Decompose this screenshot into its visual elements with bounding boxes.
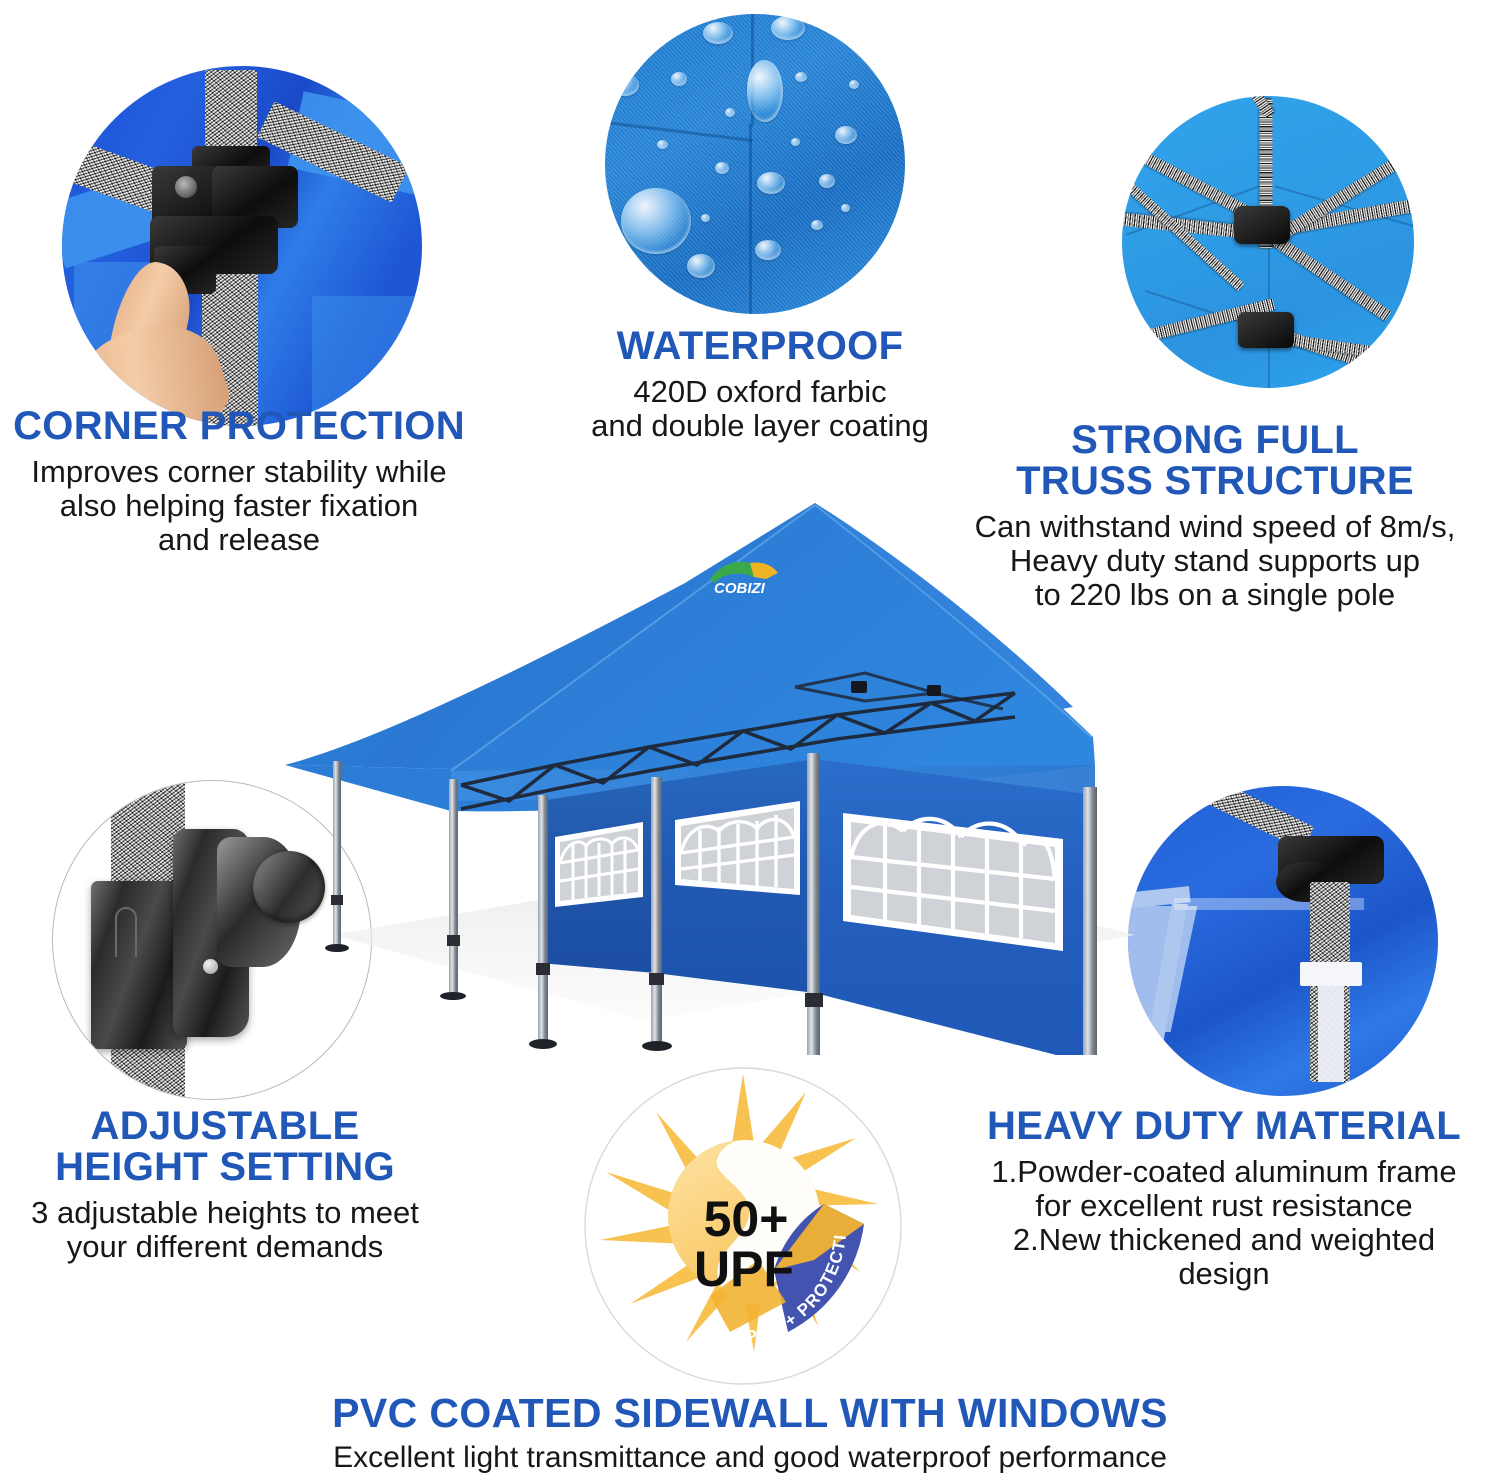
waterproof-fabric-photo [605,14,905,314]
badge-value: 50+ [704,1191,789,1247]
velcro-strap [1300,962,1362,986]
heavy-duty-material-photo [1128,786,1438,1096]
screw-icon [175,176,197,198]
upf-protection-badge: UPF50+ PROTECTION 50+ UPF [578,1064,908,1389]
canopy-tent-illustration: COBIZI [255,465,1135,1055]
feature-title: WATERPROOF [510,326,1010,367]
pin-slot-icon [115,907,137,957]
truss-hub-icon [1234,206,1290,244]
feature-body: 3 adjustable heights to meet your differ… [0,1196,450,1264]
svg-text:COBIZI: COBIZI [714,580,766,597]
feature-heavy-duty-material: HEAVY DUTY MATERIAL 1.Powder-coated alum… [948,1106,1500,1291]
feature-title: ADJUSTABLE HEIGHT SETTING [0,1106,450,1188]
badge-label: UPF [694,1241,794,1297]
rivet-icon [203,959,218,974]
feature-body: 1.Powder-coated aluminum frame for excel… [948,1155,1500,1291]
caption-title: PVC COATED SIDEWALL WITH WINDOWS [0,1392,1500,1435]
feature-title: CORNER PROTECTION [0,406,478,447]
feature-title: HEAVY DUTY MATERIAL [948,1106,1500,1147]
bottom-caption: PVC COATED SIDEWALL WITH WINDOWS Excelle… [0,1392,1500,1475]
corner-protection-photo [62,66,422,426]
sidewall-window [555,822,643,907]
truss-hub-lower-icon [1238,312,1294,348]
caption-subtitle: Excellent light transmittance and good w… [0,1441,1500,1475]
infographic-page: CORNER PROTECTION Improves corner stabil… [0,0,1500,1482]
truss-structure-photo [1122,96,1414,388]
feature-adjustable-height: ADJUSTABLE HEIGHT SETTING 3 adjustable h… [0,1106,450,1264]
